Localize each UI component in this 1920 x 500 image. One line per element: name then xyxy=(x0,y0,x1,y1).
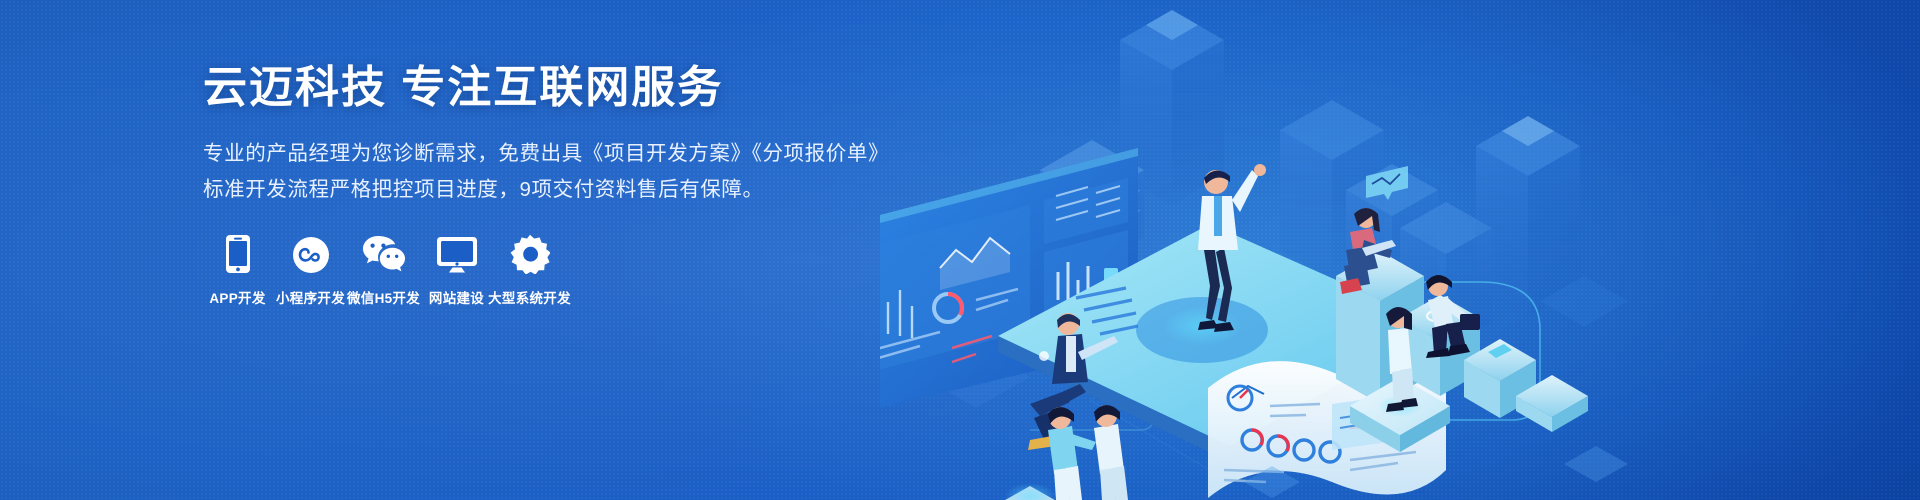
monitor-icon xyxy=(436,230,478,274)
service-item-app[interactable]: APP开发 xyxy=(201,230,274,307)
hero-banner: 云迈科技 专注互联网服务 专业的产品经理为您诊断需求，免费出具《项目开发方案》《… xyxy=(0,0,1920,500)
mobile-phone-icon xyxy=(225,230,251,274)
service-item-large-system[interactable]: 大型系统开发 xyxy=(493,230,566,307)
subtitle-line-2: 标准开发流程严格把控项目进度，9项交付资料售后有保障。 xyxy=(203,172,903,208)
people-pair-bottom xyxy=(1048,405,1128,500)
mini-program-icon xyxy=(292,230,330,274)
service-label: APP开发 xyxy=(209,287,265,307)
service-item-miniprogram[interactable]: 小程序开发 xyxy=(274,230,347,307)
service-item-website[interactable]: 网站建设 xyxy=(420,230,493,307)
service-label: 网站建设 xyxy=(429,287,484,307)
service-list: APP开发 小程序开发 xyxy=(201,230,566,307)
isometric-illustration xyxy=(880,0,1920,500)
service-item-wechat-h5[interactable]: 微信H5开发 xyxy=(347,230,420,307)
subtitle-line-1: 专业的产品经理为您诊断需求，免费出具《项目开发方案》《分项报价单》 xyxy=(203,136,903,172)
hero-subtitle: 专业的产品经理为您诊断需求，免费出具《项目开发方案》《分项报价单》 标准开发流程… xyxy=(203,136,903,208)
wechat-icon xyxy=(361,230,407,274)
service-label: 微信H5开发 xyxy=(347,287,420,307)
page-title: 云迈科技 专注互联网服务 xyxy=(203,62,903,114)
gear-icon xyxy=(510,230,550,274)
service-label: 大型系统开发 xyxy=(488,287,571,307)
service-label: 小程序开发 xyxy=(276,287,345,307)
hero-copy: 云迈科技 专注互联网服务 专业的产品经理为您诊断需求，免费出具《项目开发方案》《… xyxy=(203,62,903,208)
